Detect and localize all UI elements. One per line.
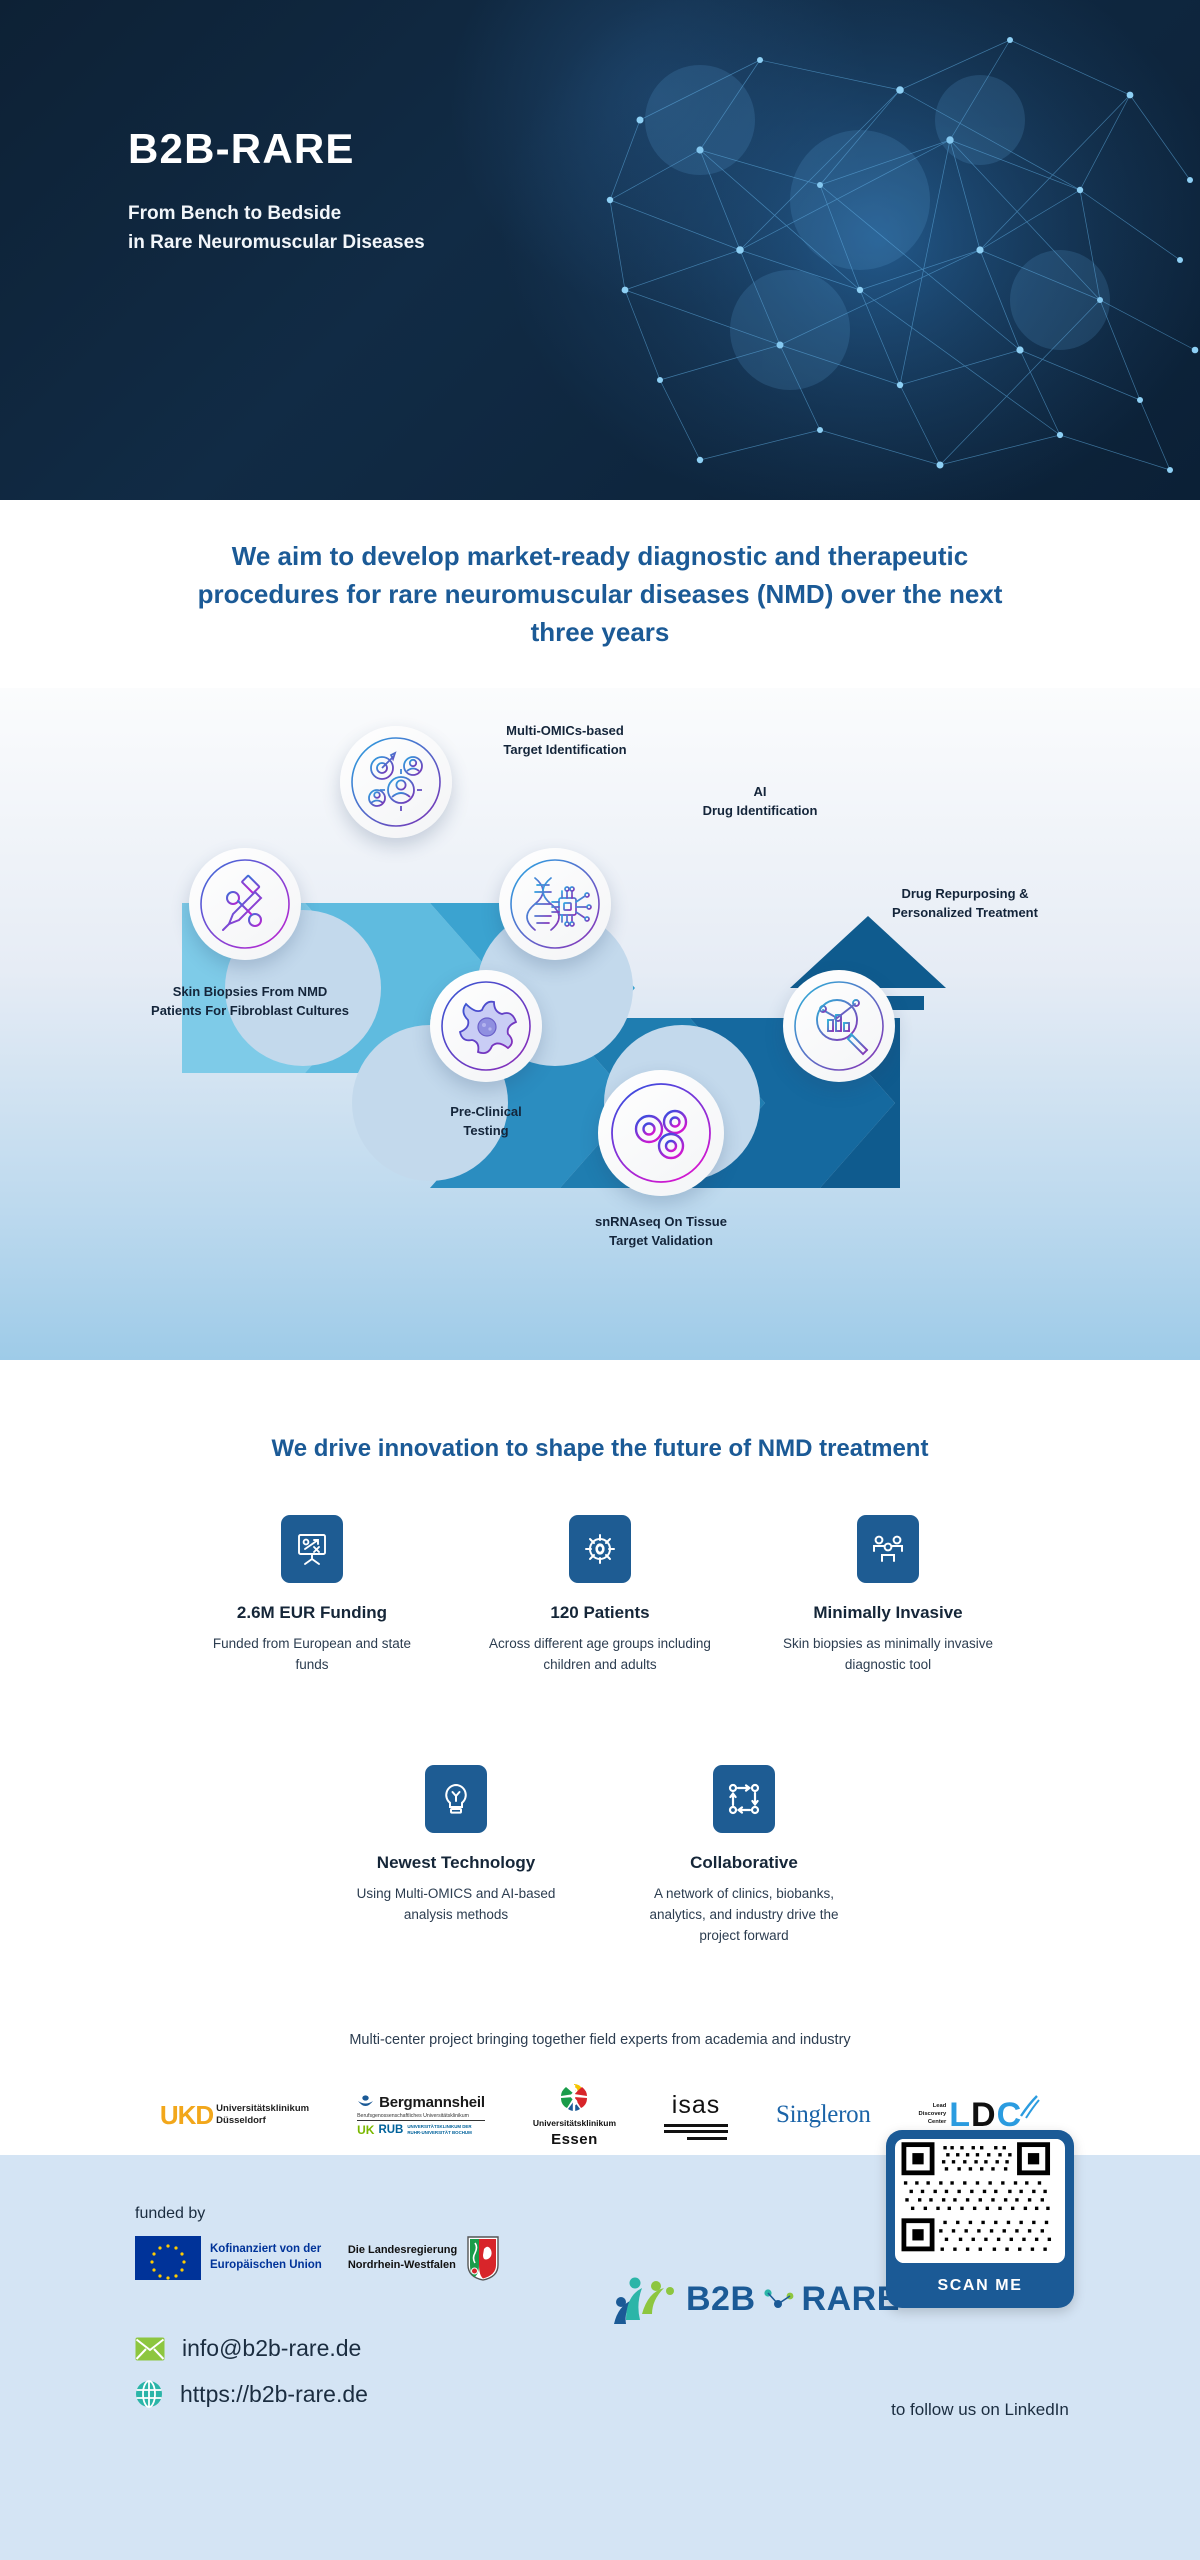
ldc-letter-c: C bbox=[997, 2096, 1020, 2135]
label-line2: Drug Identification bbox=[650, 802, 870, 821]
qr-note: to follow us on LinkedIn bbox=[840, 2400, 1120, 2420]
nrw-funding-logo: Die Landesregierung Nordrhein-Westfalen bbox=[348, 2235, 500, 2281]
nrw-coat-of-arms-icon bbox=[466, 2235, 500, 2281]
partner-logo-essen: Universitätsklinikum Essen bbox=[533, 2084, 616, 2146]
eu-text-line2: Europäischen Union bbox=[210, 2258, 322, 2274]
feature-desc: Funded from European and state funds bbox=[201, 1634, 423, 1676]
mission-statement: We aim to develop market-ready diagnosti… bbox=[170, 538, 1030, 651]
ukrub-sub1: UNIVERSITÄTSKLINIKUM DER bbox=[407, 2124, 471, 2129]
label-line1: Pre-Clinical bbox=[416, 1103, 556, 1122]
partner-logo-ukd: UKD Universitätsklinikum Düsseldorf bbox=[160, 2084, 309, 2146]
page-title: B2B-RARE bbox=[128, 125, 355, 173]
label-line1: Skin Biopsies From NMD bbox=[110, 983, 390, 1002]
label-line1: snRNAseq On Tissue bbox=[561, 1213, 761, 1232]
process-diagram-section: Skin Biopsies From NMD Patients For Fibr… bbox=[0, 688, 1200, 1360]
email-address: info@b2b-rare.de bbox=[182, 2335, 361, 2362]
isas-wordmark: isas bbox=[672, 2091, 720, 2120]
bergmannsheil-name: Bergmannsheil bbox=[379, 2094, 485, 2111]
qr-code-image bbox=[895, 2139, 1065, 2263]
label-line2: Personalized Treatment bbox=[840, 904, 1090, 923]
infographic-page: B2B-RARE From Bench to Bedside in Rare N… bbox=[0, 0, 1200, 2560]
essen-line2: Essen bbox=[551, 2131, 598, 2148]
process-label-ai-drug-id: AI Drug Identification bbox=[650, 783, 870, 821]
process-node-drug-repurposing[interactable] bbox=[783, 970, 895, 1082]
singleron-wordmark: Singleron bbox=[776, 2101, 871, 2129]
feature-card-technology: Newest Technology Using Multi-OMICS and … bbox=[345, 1765, 567, 1947]
ukd-mark: UKD bbox=[160, 2100, 213, 2131]
label-line2: Testing bbox=[416, 1122, 556, 1141]
ldc-letter-d: D bbox=[971, 2096, 994, 2135]
contact-website-row[interactable]: https://b2b-rare.de bbox=[135, 2380, 368, 2408]
process-node-ai-drug-id[interactable] bbox=[499, 848, 611, 960]
ldc-sub2: Discovery bbox=[919, 2111, 947, 2119]
presentation-chart-icon bbox=[281, 1515, 343, 1583]
eu-funding-logo: Kofinanziert von der Europäischen Union bbox=[135, 2236, 322, 2280]
feature-desc: Using Multi-OMICS and AI-based analysis … bbox=[345, 1884, 567, 1926]
feature-desc: Skin biopsies as minimally invasive diag… bbox=[777, 1634, 999, 1676]
ldc-letter-l: L bbox=[949, 2096, 968, 2135]
eu-flag-icon bbox=[135, 2236, 201, 2280]
nrw-text-line2: Nordrhein-Westfalen bbox=[348, 2258, 457, 2273]
feature-title: Collaborative bbox=[690, 1853, 798, 1873]
essen-emblem-icon bbox=[555, 2083, 593, 2115]
people-group-icon bbox=[857, 1515, 919, 1583]
feature-row-2: Newest Technology Using Multi-OMICS and … bbox=[0, 1765, 1200, 1947]
ukrub-rub: RUB bbox=[378, 2124, 403, 2136]
process-flow-band bbox=[0, 688, 1200, 1360]
mission-section: We aim to develop market-ready diagnosti… bbox=[0, 500, 1200, 690]
fibroblast-cell-icon bbox=[440, 980, 532, 1072]
feature-card-funding: 2.6M EUR Funding Funded from European an… bbox=[201, 1515, 423, 1676]
feature-card-minimally-invasive: Minimally Invasive Skin biopsies as mini… bbox=[777, 1515, 999, 1676]
footer-section: funded by bbox=[0, 2155, 1200, 2560]
partner-logo-bergmannsheil: Bergmannsheil Berufsgenossenschaftliches… bbox=[357, 2084, 485, 2146]
globe-icon bbox=[135, 2380, 163, 2408]
ukd-line1: Universitätsklinikum bbox=[216, 2103, 309, 2115]
label-line2: Patients For Fibroblast Cultures bbox=[110, 1002, 390, 1021]
hero-subtitle-line1: From Bench to Bedside bbox=[128, 200, 425, 229]
ldc-sub1: Lead bbox=[919, 2103, 947, 2111]
process-node-skin-biopsies[interactable] bbox=[189, 848, 301, 960]
b2b-logo-text: B2B bbox=[686, 2280, 756, 2319]
feature-desc: A network of clinics, biobanks, analytic… bbox=[633, 1884, 855, 1947]
process-node-preclinical[interactable] bbox=[430, 970, 542, 1082]
ldc-swoosh-icon bbox=[1018, 2094, 1040, 2122]
partners-note: Multi-center project bringing together f… bbox=[0, 2032, 1200, 2048]
ukrub-sub2: RUHR-UNIVERSITÄT BOCHUM bbox=[407, 2130, 471, 2135]
feature-desc: Across different age groups including ch… bbox=[489, 1634, 711, 1676]
ukrub-uk: UK bbox=[357, 2123, 374, 2137]
network-arrows-icon bbox=[713, 1765, 775, 1833]
isas-rule-3 bbox=[687, 2137, 727, 2140]
process-label-skin-biopsies: Skin Biopsies From NMD Patients For Fibr… bbox=[110, 983, 390, 1021]
lightbulb-icon bbox=[425, 1765, 487, 1833]
target-crosshair-icon bbox=[569, 1515, 631, 1583]
envelope-icon bbox=[135, 2337, 165, 2361]
feature-row-1: 2.6M EUR Funding Funded from European an… bbox=[0, 1515, 1200, 1676]
label-line1: Multi-OMICs-based bbox=[435, 722, 695, 741]
label-line1: Drug Repurposing & bbox=[840, 885, 1090, 904]
ldc-sub3: Center bbox=[919, 2119, 947, 2127]
website-url: https://b2b-rare.de bbox=[180, 2381, 368, 2408]
isas-rule-2 bbox=[664, 2130, 728, 2133]
feature-card-collaborative: Collaborative A network of clinics, biob… bbox=[633, 1765, 855, 1947]
feature-title: 120 Patients bbox=[550, 1603, 649, 1623]
syringe-icon bbox=[199, 858, 291, 950]
dna-chip-icon bbox=[509, 858, 601, 950]
b2b-node-icon bbox=[762, 2287, 796, 2311]
scan-me-label: SCAN ME bbox=[895, 2277, 1065, 2295]
funding-logos: Kofinanziert von der Europäischen Union … bbox=[135, 2235, 500, 2281]
cell-cluster-icon bbox=[609, 1081, 713, 1185]
process-label-multi-omics: Multi-OMICs-based Target Identification bbox=[435, 722, 695, 760]
hero-subtitle-line2: in Rare Neuromuscular Diseases bbox=[128, 229, 425, 258]
contact-email-row[interactable]: info@b2b-rare.de bbox=[135, 2335, 368, 2362]
innovation-section: We drive innovation to shape the future … bbox=[0, 1360, 1200, 2155]
feature-title: Minimally Invasive bbox=[813, 1603, 962, 1623]
innovation-heading: We drive innovation to shape the future … bbox=[0, 1435, 1200, 1463]
eu-text-line1: Kofinanziert von der bbox=[210, 2242, 322, 2258]
magnifier-chart-icon bbox=[793, 980, 885, 1072]
partner-logo-isas: isas bbox=[664, 2084, 728, 2146]
b2b-rare-figures-icon bbox=[612, 2270, 680, 2328]
feature-title: Newest Technology bbox=[377, 1853, 535, 1873]
target-people-icon bbox=[350, 736, 442, 828]
hero-subtitle: From Bench to Bedside in Rare Neuromuscu… bbox=[128, 200, 425, 257]
essen-line1: Universitätsklinikum bbox=[533, 2118, 616, 2128]
bergmannsheil-sub: Berufsgenossenschaftliches Universitätsk… bbox=[357, 2113, 485, 2121]
process-label-snrnaseq: snRNAseq On Tissue Target Validation bbox=[561, 1213, 761, 1251]
label-line2: Target Identification bbox=[435, 741, 695, 760]
qr-code-card[interactable]: SCAN ME bbox=[886, 2130, 1074, 2308]
isas-rule-1 bbox=[664, 2124, 728, 2127]
process-label-preclinical: Pre-Clinical Testing bbox=[416, 1103, 556, 1141]
label-line1: AI bbox=[650, 783, 870, 802]
process-node-snrnaseq[interactable] bbox=[598, 1070, 724, 1196]
feature-title: 2.6M EUR Funding bbox=[237, 1603, 387, 1623]
label-line2: Target Validation bbox=[561, 1232, 761, 1251]
partner-logo-singleron: Singleron bbox=[776, 2084, 871, 2146]
bergmannsheil-mark-icon bbox=[357, 2095, 374, 2110]
ukd-line2: Düsseldorf bbox=[216, 2115, 309, 2127]
nrw-text-line1: Die Landesregierung bbox=[348, 2243, 457, 2258]
feature-card-patients: 120 Patients Across different age groups… bbox=[489, 1515, 711, 1676]
contact-info: info@b2b-rare.de https://b2b-rare.de bbox=[135, 2335, 368, 2426]
hero-section: B2B-RARE From Bench to Bedside in Rare N… bbox=[0, 0, 1200, 500]
b2b-rare-logo: B2B RARE bbox=[612, 2270, 900, 2328]
process-label-drug-repurposing: Drug Repurposing & Personalized Treatmen… bbox=[840, 885, 1090, 923]
funded-by-label: funded by bbox=[135, 2205, 205, 2223]
